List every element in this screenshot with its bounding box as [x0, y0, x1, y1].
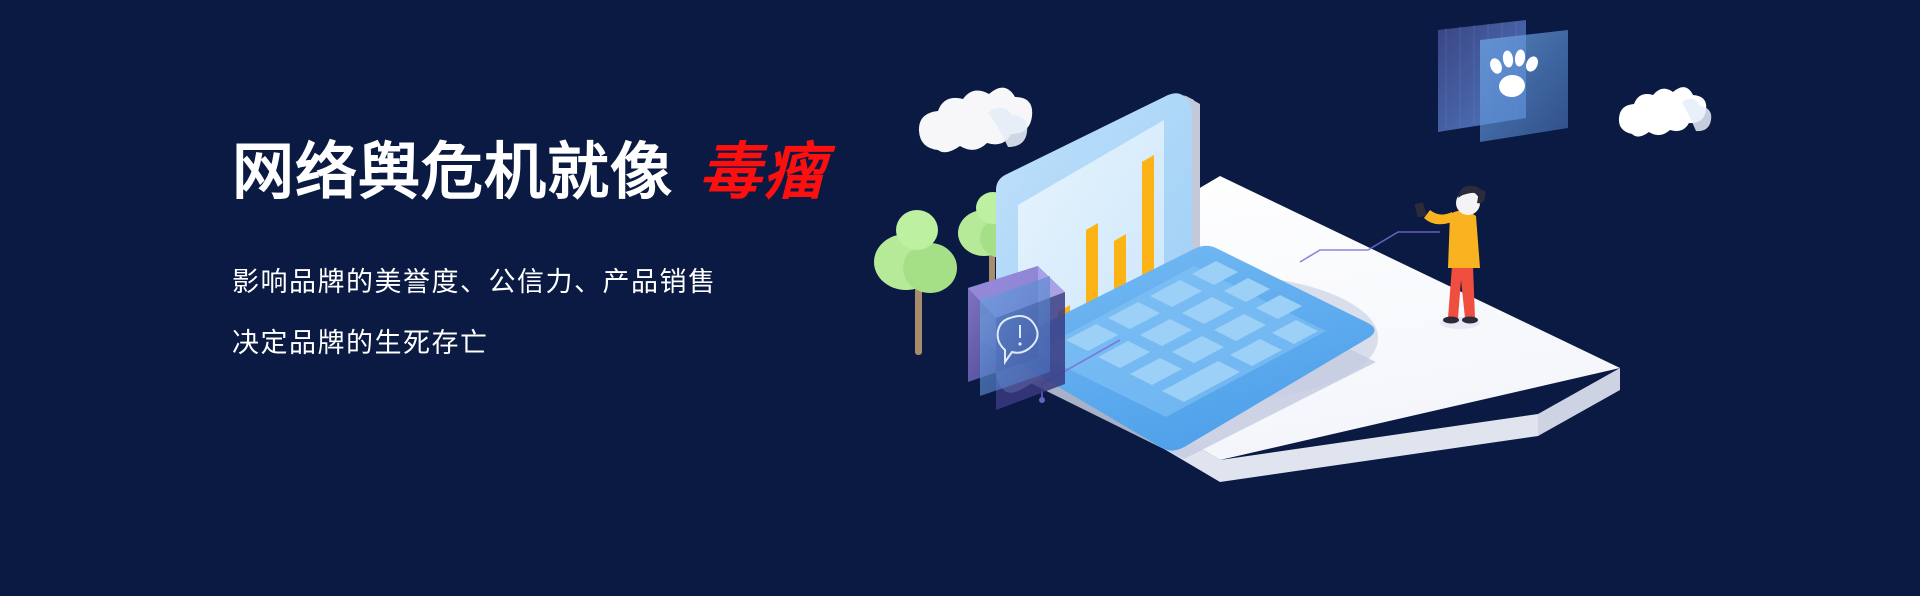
headline-emphasis-text: 毒瘤 [699, 138, 827, 207]
banner-subtitle: 影响品牌的美誉度、公信力、产品销售 决定品牌的生死存亡 [232, 269, 932, 357]
cloud-right-icon [1619, 87, 1711, 136]
cloud-left-icon [919, 88, 1032, 153]
page-title: 网络舆危机就像毒瘤 [232, 140, 932, 205]
card-alert-bubble[interactable] [968, 266, 1065, 410]
banner-copy: 网络舆危机就像毒瘤 影响品牌的美誉度、公信力、产品销售 决定品牌的生死存亡 [232, 140, 932, 357]
subtitle-line-1: 影响品牌的美誉度、公信力、产品销售 [232, 269, 932, 296]
illustration-isometric-data-scene [820, 0, 1920, 596]
subtitle-line-2: 决定品牌的生死存亡 [232, 330, 932, 357]
person-shoe-left [1443, 317, 1459, 324]
person-shoe-right [1462, 317, 1478, 324]
hero-banner: 网络舆危机就像毒瘤 影响品牌的美誉度、公信力、产品销售 决定品牌的生死存亡 [0, 0, 1920, 596]
person-arm [1424, 210, 1452, 224]
person-shirt [1448, 210, 1480, 268]
headline-primary-text: 网络舆危机就像 [232, 138, 673, 207]
person-phone [1414, 202, 1427, 218]
card-paw-print[interactable] [1438, 20, 1568, 142]
